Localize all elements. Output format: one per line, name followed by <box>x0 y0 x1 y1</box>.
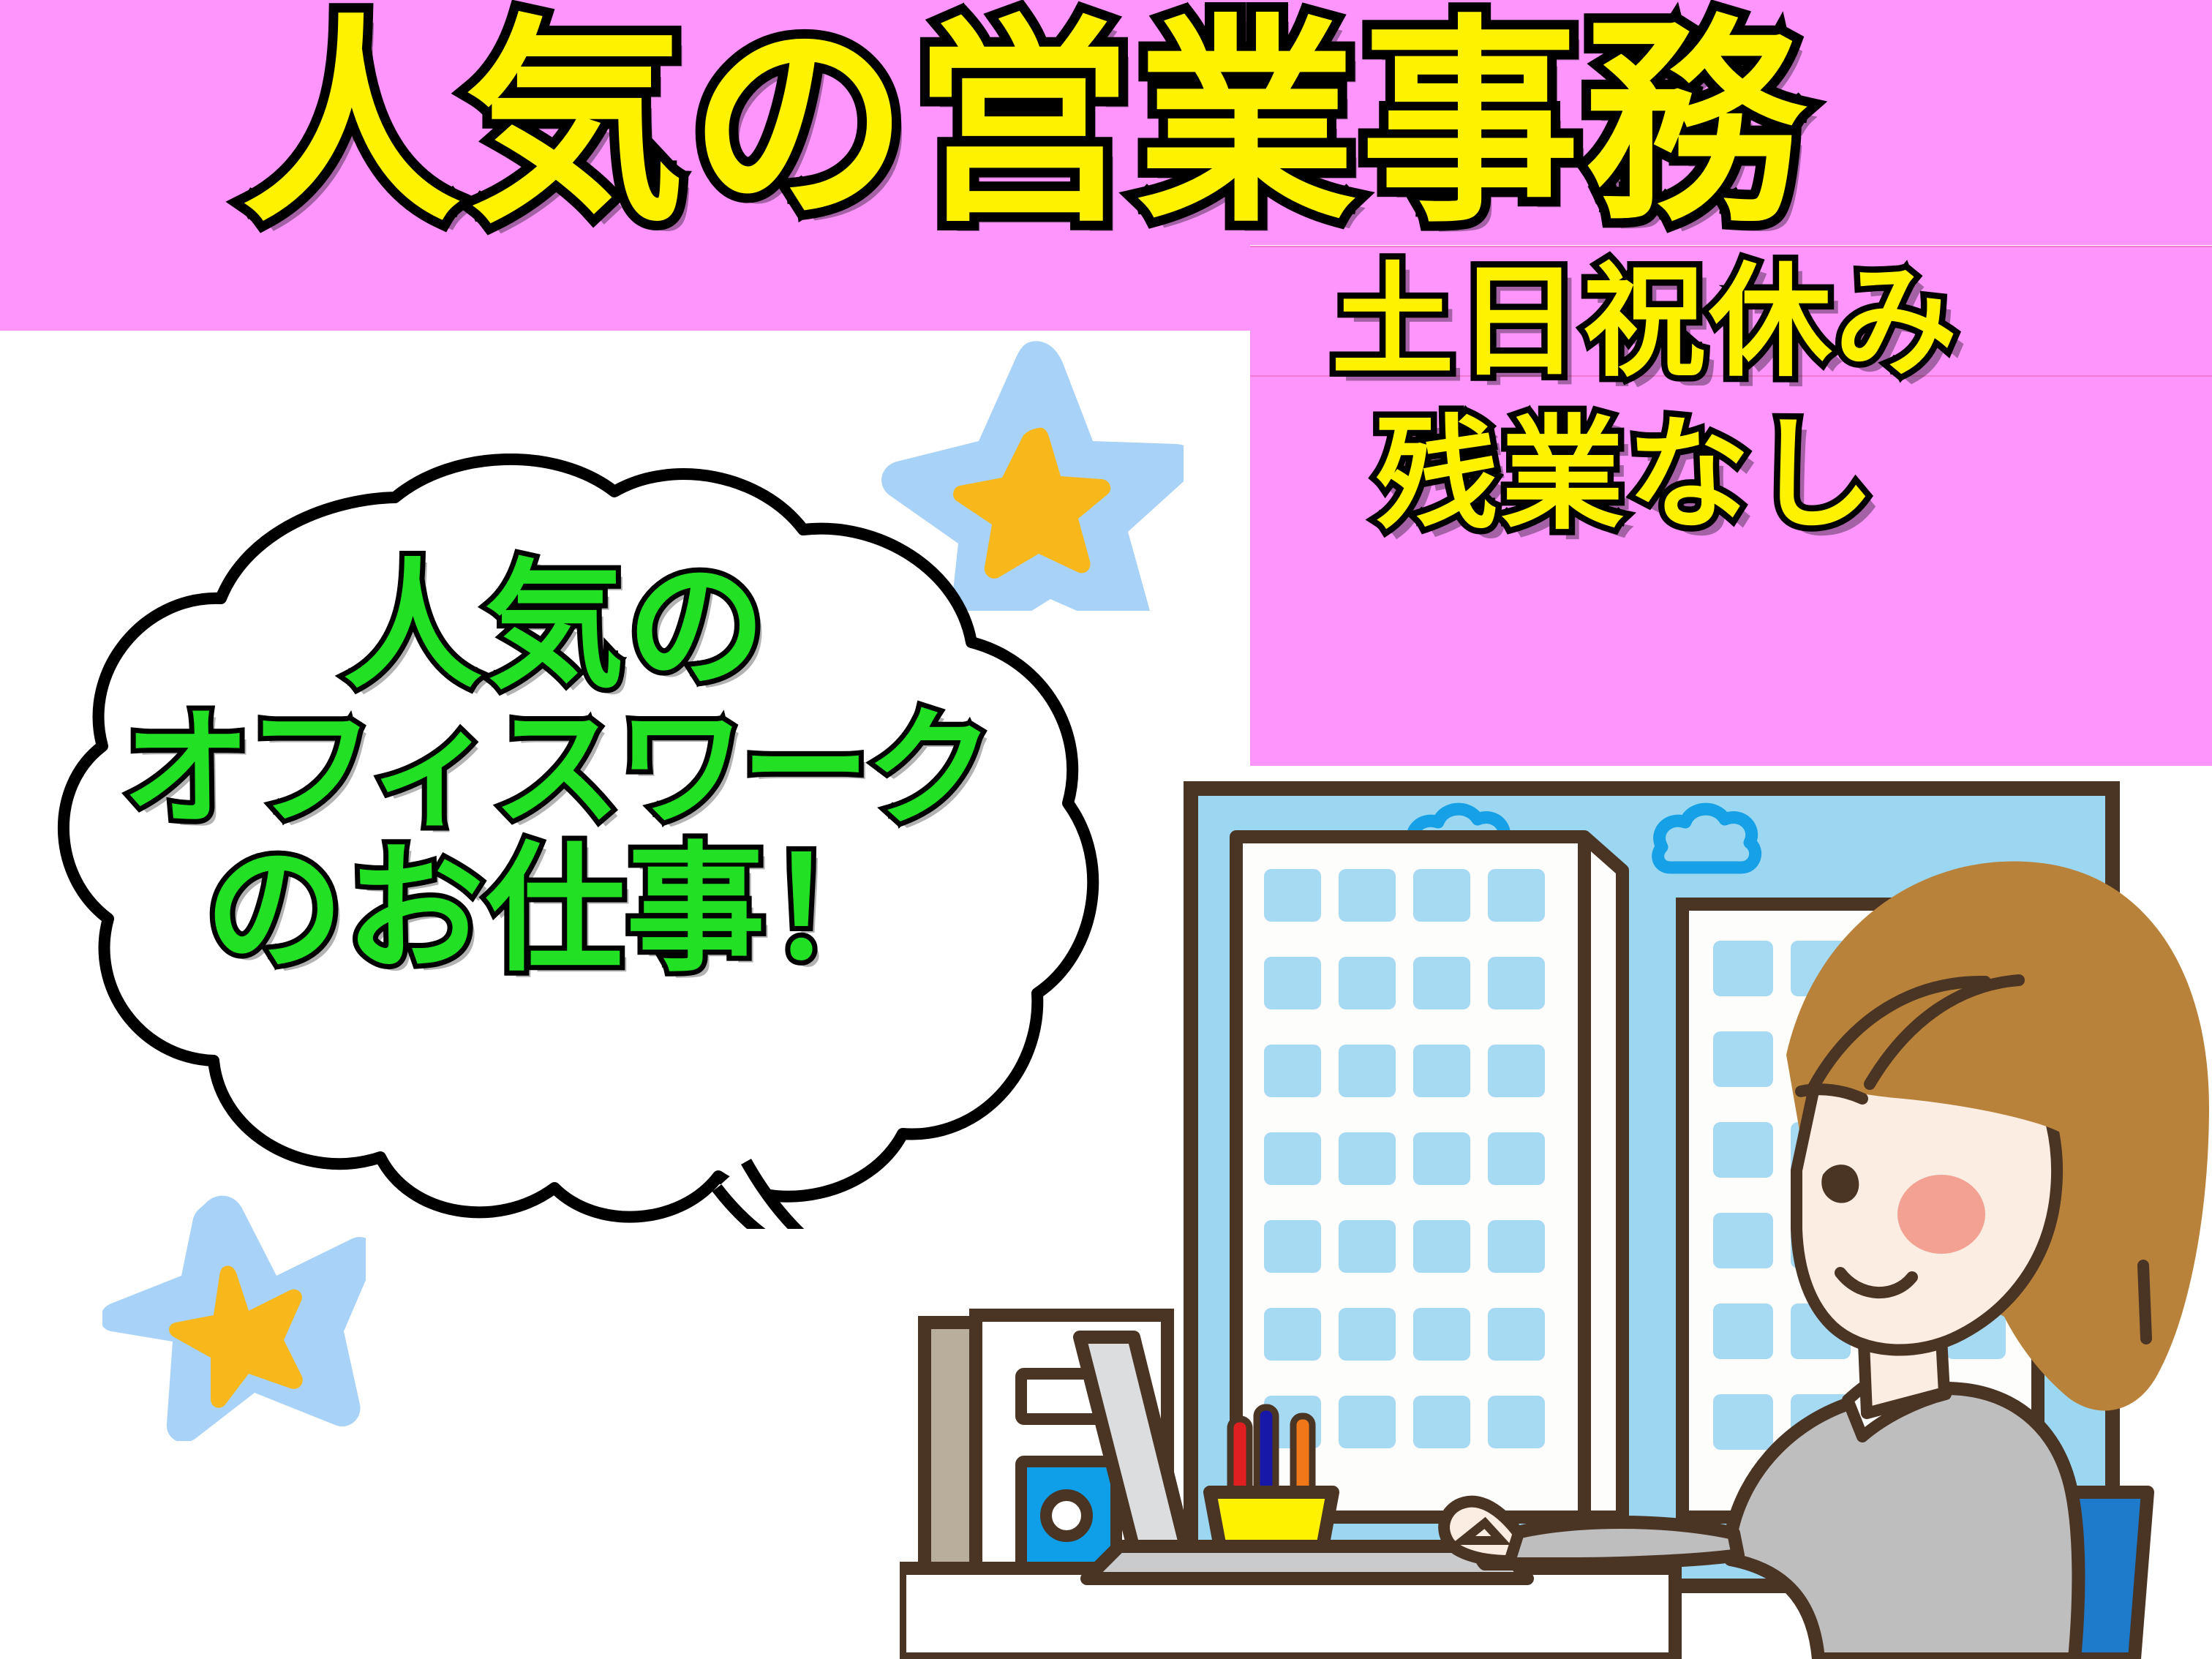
benefit-label-overtime: 残業なし <box>1375 413 1878 536</box>
page-title: 人気の営業事務 <box>241 15 1808 234</box>
poster-canvas: 人気の営業事務 土日祝休み 残業なし 人気の オフィスワーク のお仕事！ <box>0 0 2212 1659</box>
bubble-line-1: 人気の <box>51 556 1061 698</box>
building-left <box>1236 837 1622 1517</box>
bubble-line-3: のお仕事！ <box>51 839 1061 981</box>
blush <box>1897 1175 1985 1254</box>
speech-bubble-text: 人気の オフィスワーク のお仕事！ <box>51 556 1061 981</box>
benefit-label-holiday: 土日祝休み <box>1331 260 1960 383</box>
bubble-line-2: オフィスワーク <box>51 704 1061 835</box>
